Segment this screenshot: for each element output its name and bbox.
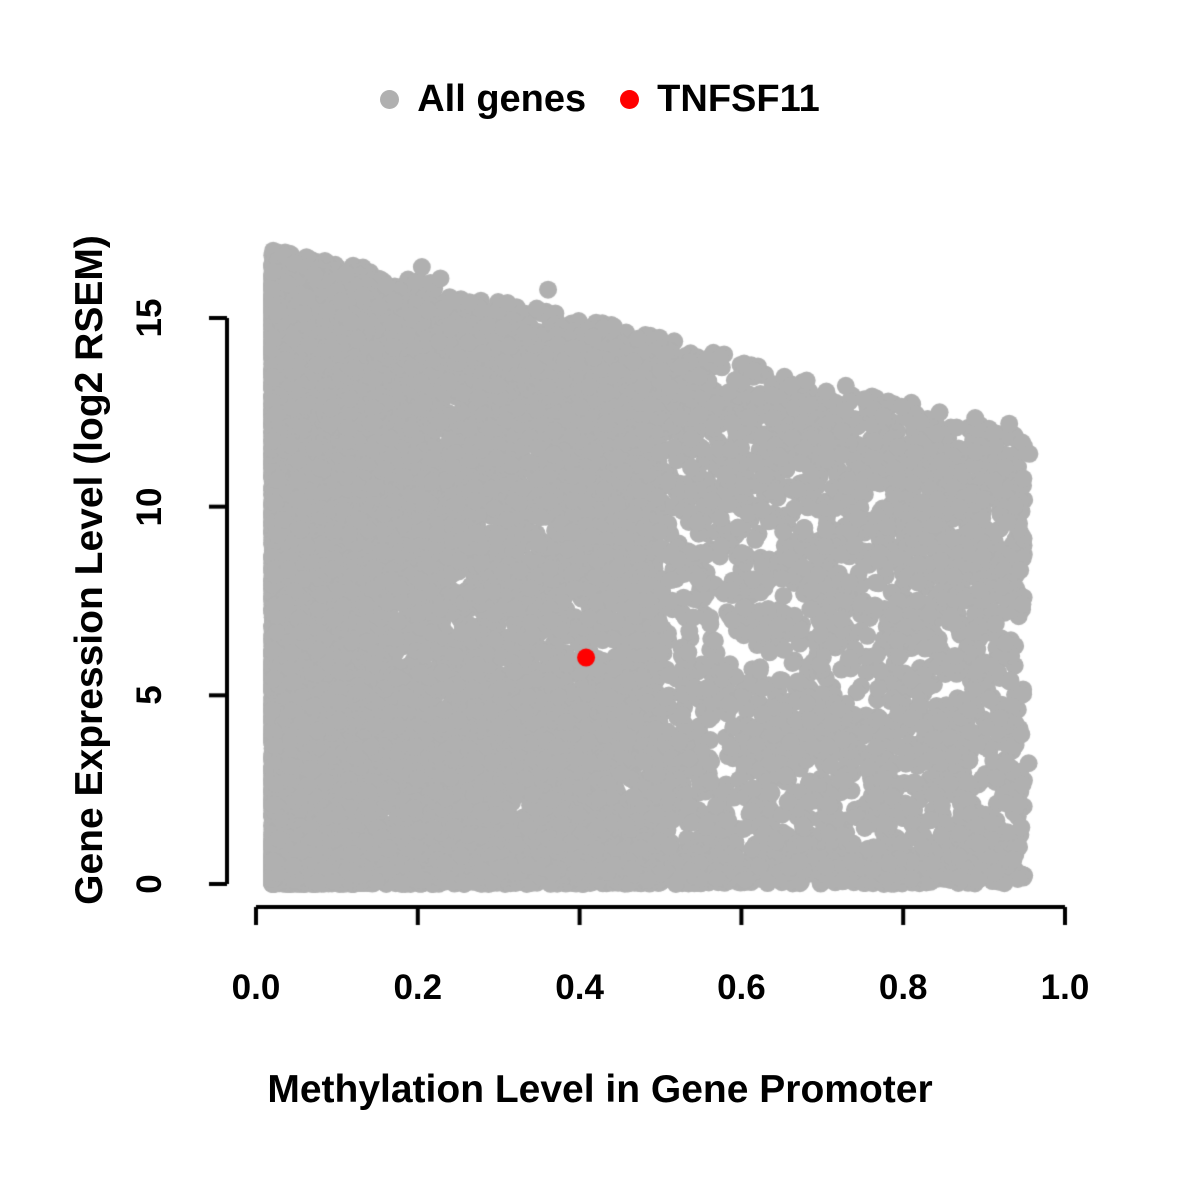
x-tick-label-3: 0.6 [717, 968, 766, 1008]
x-tick-label-2: 0.4 [555, 968, 604, 1008]
x-tick-label-5: 1.0 [1041, 968, 1090, 1008]
y-tick-label-2: 10 [130, 487, 170, 527]
y-axis-title: Gene Expression Level (log2 RSEM) [68, 70, 112, 1070]
x-axis-title: Methylation Level in Gene Promoter [0, 1068, 1200, 1112]
scatter-plot-canvas [0, 0, 1200, 1200]
y-tick-label-0: 0 [130, 864, 170, 904]
x-tick-label-0: 0.0 [232, 968, 281, 1008]
y-tick-label-1: 5 [130, 675, 170, 715]
scatter-plot-figure: All genes TNFSF11 Methylation Level in G… [0, 0, 1200, 1200]
x-tick-label-4: 0.8 [879, 968, 928, 1008]
y-tick-label-3: 15 [130, 298, 170, 338]
x-tick-label-1: 0.2 [393, 968, 442, 1008]
